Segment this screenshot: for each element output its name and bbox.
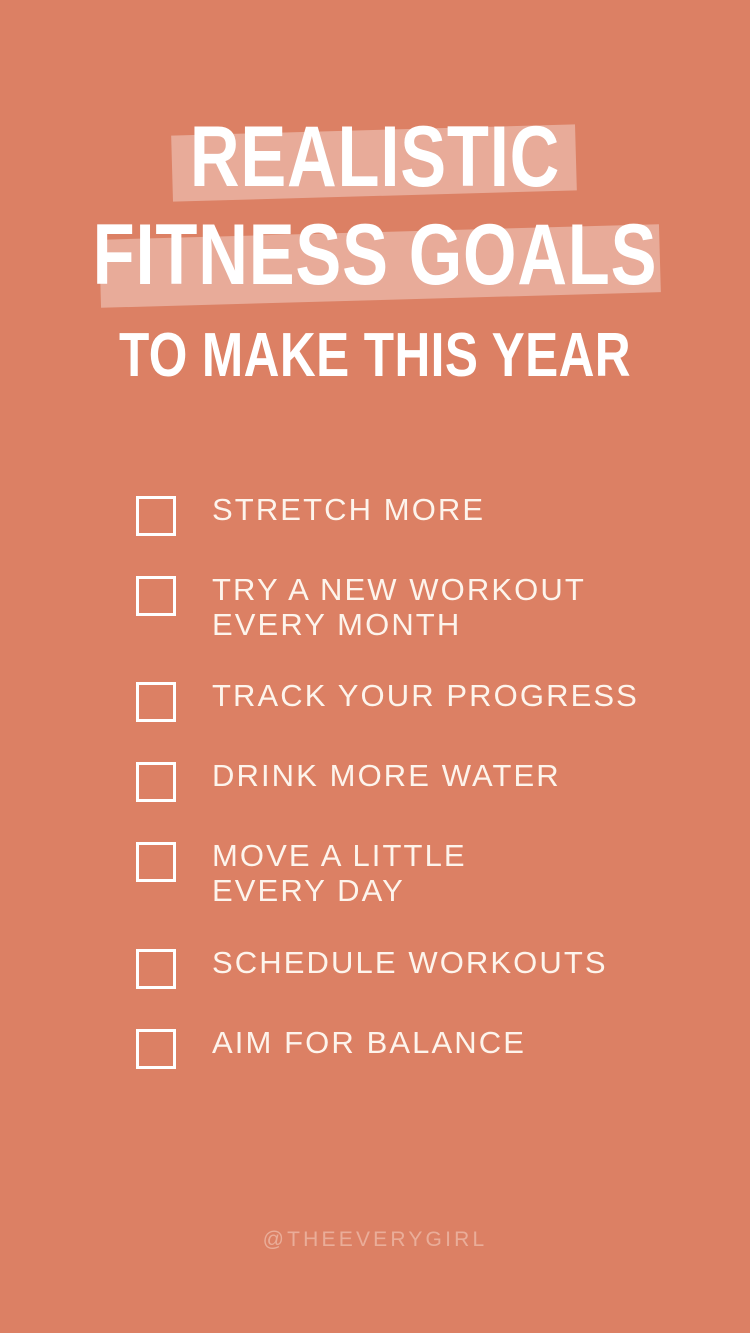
checklist-item[interactable]: SCHEDULE WORKOUTS <box>136 945 696 989</box>
checklist-item-label: STRETCH MORE <box>212 492 485 528</box>
goals-checklist: STRETCH MORE TRY A NEW WORKOUT EVERY MON… <box>136 492 696 1069</box>
title-line-2: FITNESS GOALS <box>75 216 675 295</box>
checklist-item-label: SCHEDULE WORKOUTS <box>212 945 608 981</box>
checklist-item[interactable]: MOVE A LITTLE EVERY DAY <box>136 838 696 908</box>
checklist-item-label: TRACK YOUR PROGRESS <box>212 678 639 714</box>
poster-header: REALISTIC FITNESS GOALS TO MAKE THIS YEA… <box>0 0 750 420</box>
checklist-item-label: TRY A NEW WORKOUT EVERY MONTH <box>212 572 586 642</box>
checkbox-icon[interactable] <box>136 1029 176 1069</box>
checkbox-icon[interactable] <box>136 842 176 882</box>
checklist-item[interactable]: AIM FOR BALANCE <box>136 1025 696 1069</box>
checkbox-icon[interactable] <box>136 949 176 989</box>
checkbox-icon[interactable] <box>136 682 176 722</box>
poster-canvas: REALISTIC FITNESS GOALS TO MAKE THIS YEA… <box>0 0 750 1333</box>
checklist-item[interactable]: STRETCH MORE <box>136 492 696 536</box>
checklist-item-label: DRINK MORE WATER <box>212 758 561 794</box>
checklist-item[interactable]: DRINK MORE WATER <box>136 758 696 802</box>
checklist-item[interactable]: TRY A NEW WORKOUT EVERY MONTH <box>136 572 696 642</box>
checklist-item-label: AIM FOR BALANCE <box>212 1025 526 1061</box>
footer-watermark: @THEEVERYGIRL <box>0 1228 750 1252</box>
checklist-item[interactable]: TRACK YOUR PROGRESS <box>136 678 696 722</box>
title-line-1: REALISTIC <box>75 118 675 197</box>
checklist-item-label: MOVE A LITTLE EVERY DAY <box>212 838 467 908</box>
checkbox-icon[interactable] <box>136 496 176 536</box>
page-subtitle: TO MAKE THIS YEAR <box>75 327 675 384</box>
checkbox-icon[interactable] <box>136 762 176 802</box>
checkbox-icon[interactable] <box>136 576 176 616</box>
